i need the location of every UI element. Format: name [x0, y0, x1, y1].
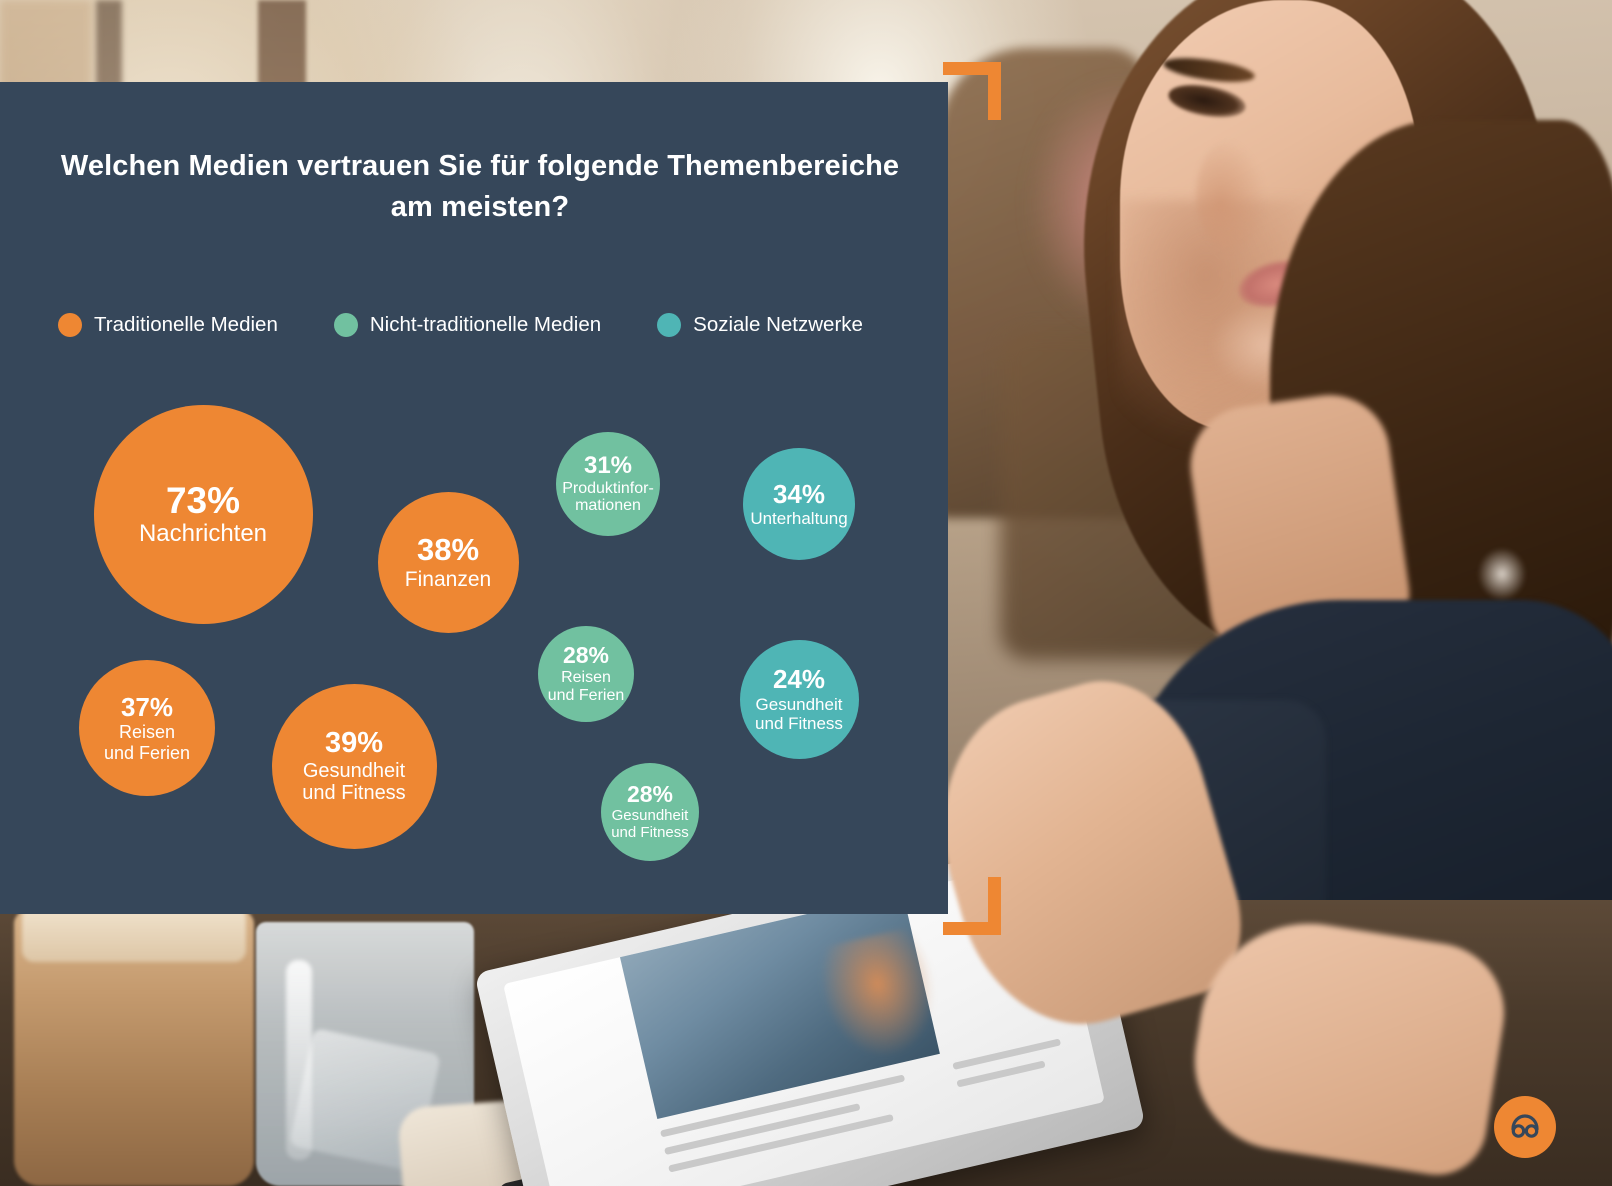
spectacles-icon: [1505, 1107, 1545, 1147]
slide-canvas: Welchen Medien vertrauen Sie für folgend…: [0, 0, 1612, 1186]
bubble-label: Gesundheitund Fitness: [755, 695, 843, 733]
bubble-value: 28%: [627, 782, 673, 808]
bubble-label: Gesundheitund Fitness: [611, 808, 689, 842]
bubble-value: 38%: [417, 533, 479, 568]
legend-color-dot: [58, 313, 82, 337]
bubble-reisen-und-ferien[interactable]: 28%Reisenund Ferien: [538, 626, 634, 722]
bubble-unterhaltung[interactable]: 34%Unterhaltung: [743, 448, 855, 560]
bubble-value: 39%: [325, 727, 383, 759]
glass-highlight: [286, 960, 312, 1160]
bubble-produktinfor-mationen[interactable]: 31%Produktinfor-mationen: [556, 432, 660, 536]
legend-color-dot: [657, 313, 681, 337]
bubble-label: Finanzen: [405, 568, 491, 592]
bubble-label: Reisenund Ferien: [548, 669, 625, 705]
bubble-value: 24%: [773, 665, 825, 694]
legend-item[interactable]: Traditionelle Medien: [58, 313, 278, 337]
bubble-gesundheit-und-fitness[interactable]: 24%Gesundheitund Fitness: [740, 640, 859, 759]
page-title: Welchen Medien vertrauen Sie für folgend…: [60, 146, 900, 228]
corner-bracket-top-right: [988, 62, 1001, 120]
wrist-accessory: [1478, 548, 1526, 600]
bubble-value: 31%: [584, 453, 632, 480]
bubble-gesundheit-und-fitness[interactable]: 28%Gesundheitund Fitness: [601, 763, 699, 861]
legend-item-label: Traditionelle Medien: [94, 313, 278, 337]
bubble-label: Nachrichten: [139, 521, 267, 548]
legend-color-dot: [334, 313, 358, 337]
corner-bracket-bottom-right: [988, 877, 1001, 935]
legend-item[interactable]: Nicht-traditionelle Medien: [334, 313, 601, 337]
bubble-value: 28%: [563, 643, 609, 669]
chart-legend: Traditionelle MedienNicht-traditionelle …: [58, 313, 919, 337]
bubble-label: Gesundheitund Fitness: [302, 760, 405, 805]
brand-logo[interactable]: [1494, 1096, 1556, 1158]
bubble-label: Reisenund Ferien: [104, 722, 190, 762]
legend-item[interactable]: Soziale Netzwerke: [657, 313, 863, 337]
bubble-label: Produktinfor-mationen: [562, 480, 654, 516]
bubble-value: 37%: [121, 693, 173, 722]
bubble-nachrichten[interactable]: 73%Nachrichten: [94, 405, 313, 624]
bubble-value: 34%: [773, 480, 825, 509]
bubble-value: 73%: [166, 480, 240, 521]
bubble-finanzen[interactable]: 38%Finanzen: [378, 492, 519, 633]
legend-item-label: Nicht-traditionelle Medien: [370, 313, 601, 337]
bubble-gesundheit-und-fitness[interactable]: 39%Gesundheitund Fitness: [272, 684, 437, 849]
tablet-photo-subject: [813, 925, 947, 1067]
coffee-foam: [22, 906, 246, 962]
legend-item-label: Soziale Netzwerke: [693, 313, 863, 337]
nose: [1196, 140, 1266, 250]
bubble-label: Unterhaltung: [750, 509, 847, 528]
bubble-reisen-und-ferien[interactable]: 37%Reisenund Ferien: [79, 660, 215, 796]
